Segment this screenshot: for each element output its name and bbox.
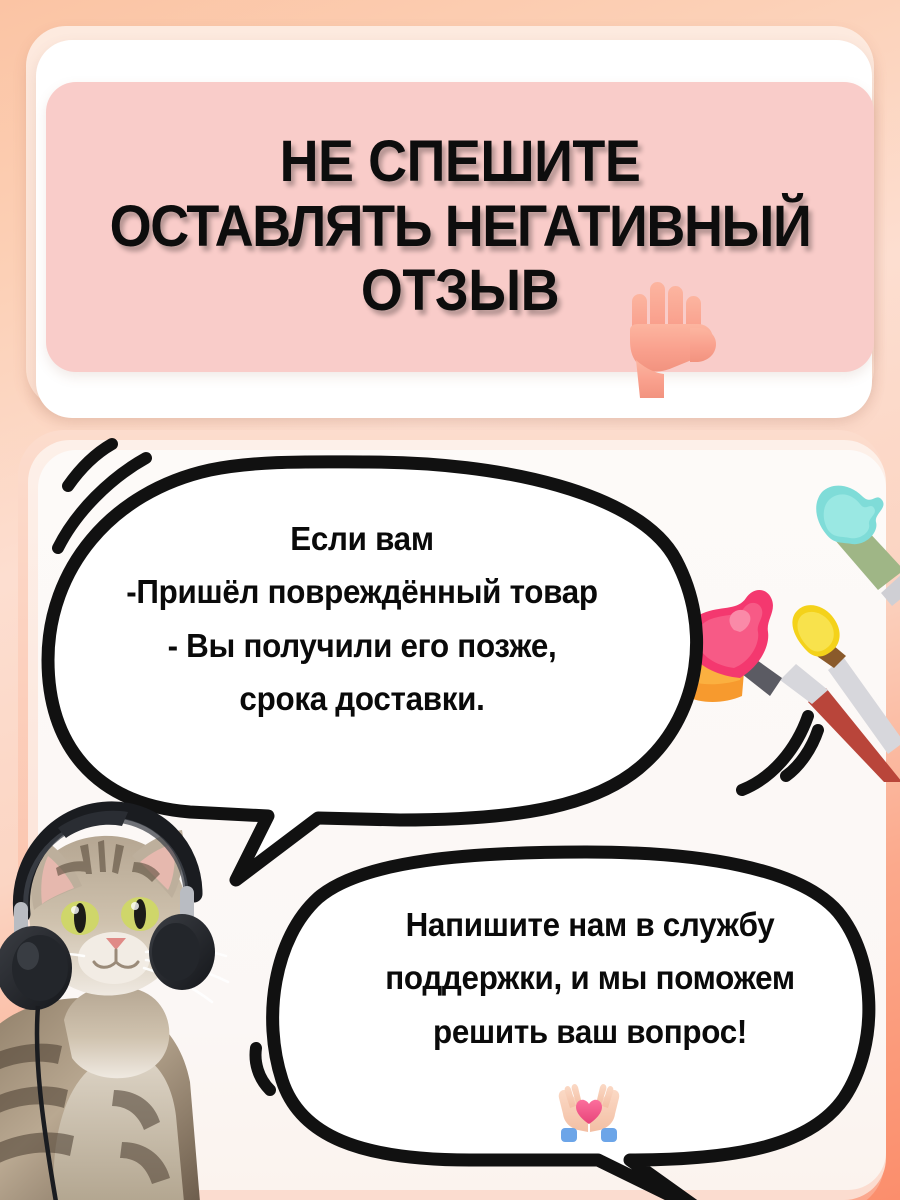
header-card-pink-layer: НЕ СПЕШИТЕ ОСТАВЛЯТЬ НЕГАТИВНЫЙ ОТЗЫВ [46, 82, 874, 372]
bubble-1-line-2: -Пришёл повреждённый товар [68, 565, 657, 618]
headline-line-3: ОТЗЫВ [81, 259, 840, 324]
bubble-2-line-2: поддержки, и мы поможем [315, 951, 866, 1004]
bubble-2-text: Напишите нам в службу поддержки, и мы по… [315, 898, 866, 1058]
bubble-1-line-3: - Вы получили его позже, [68, 619, 657, 672]
bubble-1-text: Если вам -Пришёл повреждённый товар - Вы… [68, 512, 657, 726]
poster-canvas: НЕ СПЕШИТЕ ОСТАВЛЯТЬ НЕГАТИВНЫЙ ОТЗЫВ [0, 0, 900, 1200]
bubble-1-line-1: Если вам [68, 512, 657, 565]
page-title: НЕ СПЕШИТЕ ОСТАВЛЯТЬ НЕГАТИВНЫЙ ОТЗЫВ [75, 130, 845, 325]
bubble-2-line-1: Напишите нам в службу [315, 898, 866, 951]
headline-line-2: ОСТАВЛЯТЬ НЕГАТИВНЫЙ [81, 195, 840, 260]
headline-line-1: НЕ СПЕШИТЕ [81, 130, 840, 195]
bubble-1-line-4: срока доставки. [68, 672, 657, 725]
bubble-2-line-3: решить ваш вопрос! [315, 1005, 866, 1058]
